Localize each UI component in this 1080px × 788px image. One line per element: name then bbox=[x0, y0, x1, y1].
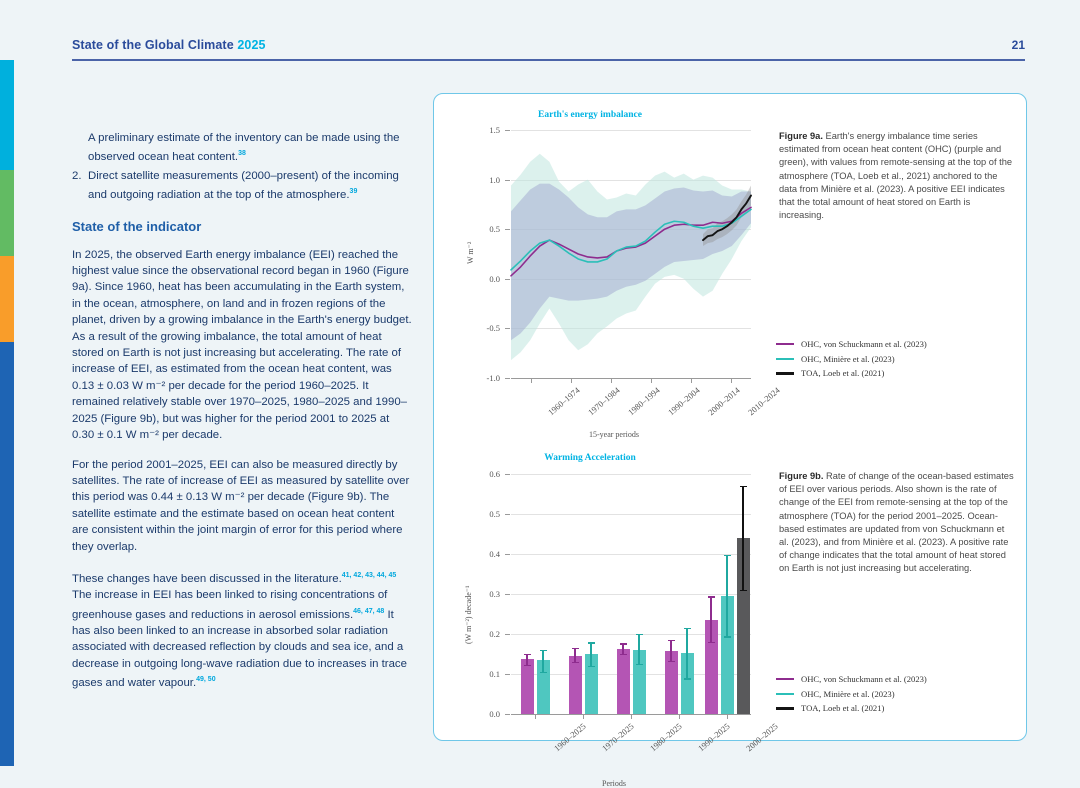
y-tickmark bbox=[505, 130, 510, 131]
gridline bbox=[511, 554, 751, 555]
y-tickmark bbox=[505, 634, 510, 635]
legend-item[interactable]: TOA, Loeb et al. (2021) bbox=[776, 368, 927, 378]
header-divider bbox=[72, 59, 1025, 61]
list-lead-text: A preliminary estimate of the inventory … bbox=[88, 132, 400, 163]
error-bar-cap-bottom bbox=[668, 661, 675, 662]
page-title-main: State of the Global Climate bbox=[72, 38, 234, 52]
footnote-ref-46-48[interactable]: 46, 47, 48 bbox=[353, 608, 384, 615]
legend-swatch-ohc-miniere bbox=[776, 358, 794, 360]
legend-item[interactable]: OHC, von Schuckmann et al. (2023) bbox=[776, 339, 927, 349]
error-bar-line bbox=[686, 628, 687, 678]
bar bbox=[617, 649, 630, 714]
rail-segment-blue bbox=[0, 342, 14, 766]
y-tick-label: -0.5 bbox=[487, 323, 500, 333]
y-tick-label: 1.0 bbox=[489, 175, 500, 185]
x-axis-label-9b: Periods bbox=[602, 779, 626, 788]
gridline bbox=[511, 474, 751, 475]
y-tick-label: -1.0 bbox=[487, 373, 500, 383]
error-bar-cap-bottom bbox=[620, 654, 627, 655]
error-bar-cap-top bbox=[724, 555, 731, 556]
legend-label-ohc-schuckmann: OHC, von Schuckmann et al. (2023) bbox=[801, 674, 927, 684]
x-tick-label: 2010–2024 bbox=[746, 385, 782, 417]
y-tickmark bbox=[505, 554, 510, 555]
page-number: 21 bbox=[1012, 38, 1025, 52]
bar bbox=[521, 659, 534, 714]
page-title: State of the Global Climate 2025 bbox=[72, 38, 1025, 52]
legend-9b: OHC, von Schuckmann et al. (2023) OHC, M… bbox=[776, 674, 927, 718]
error-bar-line bbox=[590, 642, 591, 665]
y-tickmark bbox=[505, 514, 510, 515]
y-tickmark bbox=[505, 229, 510, 230]
legend-swatch-toa-loeb bbox=[776, 372, 794, 375]
error-bar-cap-bottom bbox=[708, 642, 715, 643]
y-tick-label: 0.6 bbox=[489, 469, 500, 479]
caption-figure-9b: Figure 9b. Rate of change of the ocean-b… bbox=[779, 470, 1015, 576]
paragraph-2: For the period 2001–2025, EEI can also b… bbox=[72, 457, 412, 555]
legend-swatch-toa-loeb bbox=[776, 707, 794, 710]
legend-label-ohc-schuckmann: OHC, von Schuckmann et al. (2023) bbox=[801, 339, 927, 349]
legend-item[interactable]: OHC, Minière et al. (2023) bbox=[776, 354, 927, 364]
list-item-text: Direct satellite measurements (2000–pres… bbox=[88, 170, 399, 201]
y-axis-label-9b: (W m⁻²) decade⁻¹ bbox=[464, 586, 473, 644]
error-bar-cap-top bbox=[540, 650, 547, 651]
y-tick-label: 0.2 bbox=[489, 629, 500, 639]
legend-swatch-ohc-schuckmann bbox=[776, 343, 794, 345]
article-text-column: A preliminary estimate of the inventory … bbox=[72, 130, 412, 704]
y-tickmark bbox=[505, 714, 510, 715]
legend-label-toa-loeb: TOA, Loeb et al. (2021) bbox=[801, 368, 884, 378]
error-bar-cap-top bbox=[524, 654, 531, 655]
y-tick-label: 0.0 bbox=[489, 709, 500, 719]
error-bar-cap-top bbox=[668, 640, 675, 641]
y-tickmark bbox=[505, 594, 510, 595]
plot-area-9b: 0.00.10.20.30.40.50.61960–20251970–20251… bbox=[511, 474, 751, 714]
x-tickmark bbox=[583, 715, 584, 719]
caption-figure-9a: Figure 9a. Earth's energy imbalance time… bbox=[779, 130, 1015, 222]
footnote-ref-38[interactable]: 38 bbox=[238, 150, 246, 157]
legend-swatch-ohc-miniere bbox=[776, 693, 794, 695]
rail-segment-green bbox=[0, 170, 14, 256]
y-tick-label: 0.0 bbox=[489, 274, 500, 284]
brand-color-rail bbox=[0, 60, 14, 764]
legend-item[interactable]: OHC, Minière et al. (2023) bbox=[776, 689, 927, 699]
gridline bbox=[511, 594, 751, 595]
error-bar-cap-bottom bbox=[636, 664, 643, 665]
error-bar-line bbox=[710, 596, 711, 642]
caption-9a-label: Figure 9a. bbox=[779, 131, 823, 141]
error-bar-cap-top bbox=[740, 486, 747, 487]
x-tick-label: 1980–1994 bbox=[626, 385, 662, 417]
error-bar-line bbox=[574, 648, 575, 662]
error-bar-cap-bottom bbox=[572, 662, 579, 663]
x-tickmark bbox=[679, 715, 680, 719]
y-tick-label: 1.5 bbox=[489, 125, 500, 135]
caption-9b-label: Figure 9b. bbox=[779, 471, 823, 481]
list-item-2: 2. Direct satellite measurements (2000–p… bbox=[72, 168, 412, 204]
y-tick-label: 0.3 bbox=[489, 589, 500, 599]
x-tick-label: 1970–2025 bbox=[600, 721, 636, 753]
x-tickmark bbox=[727, 715, 728, 719]
error-bar-cap-top bbox=[684, 628, 691, 629]
error-bar-line bbox=[670, 640, 671, 661]
section-heading: State of the indicator bbox=[72, 219, 412, 235]
y-tickmark bbox=[505, 328, 510, 329]
error-bar-cap-top bbox=[620, 643, 627, 644]
x-tick-label: 1960–2025 bbox=[552, 721, 588, 753]
chart-title-9a: Earth's energy imbalance bbox=[294, 110, 886, 120]
bar bbox=[569, 656, 582, 714]
x-tickmark bbox=[691, 379, 692, 383]
y-tick-label: 0.5 bbox=[489, 224, 500, 234]
y-axis-label-9a: W m⁻² bbox=[466, 242, 475, 264]
legend-item[interactable]: TOA, Loeb et al. (2021) bbox=[776, 703, 927, 713]
error-bar-line bbox=[526, 654, 527, 665]
y-tickmark bbox=[505, 180, 510, 181]
error-bar-line bbox=[742, 486, 743, 590]
x-tick-label: 2000–2025 bbox=[744, 721, 780, 753]
chart-title-9b: Warming Acceleration bbox=[294, 453, 886, 463]
error-bar-line bbox=[622, 643, 623, 654]
error-bar-line bbox=[726, 555, 727, 637]
error-bar-line bbox=[542, 650, 543, 672]
error-bar-cap-bottom bbox=[684, 678, 691, 679]
legend-label-toa-loeb: TOA, Loeb et al. (2021) bbox=[801, 703, 884, 713]
line-chart-svg-9a bbox=[511, 130, 751, 378]
caption-9a-text: Earth's energy imbalance time series est… bbox=[779, 131, 1012, 220]
y-tickmark bbox=[505, 279, 510, 280]
x-tickmark bbox=[531, 379, 532, 383]
footnote-ref-41-45[interactable]: 41, 42, 43, 44, 45 bbox=[342, 572, 397, 579]
y-tick-label: 0.4 bbox=[489, 549, 500, 559]
list-item-body: Direct satellite measurements (2000–pres… bbox=[88, 168, 412, 204]
paragraph-1: In 2025, the observed Earth energy imbal… bbox=[72, 247, 412, 444]
legend-swatch-ohc-schuckmann bbox=[776, 678, 794, 680]
x-tickmark bbox=[631, 715, 632, 719]
y-tick-label: 0.5 bbox=[489, 509, 500, 519]
footnote-ref-39[interactable]: 39 bbox=[350, 188, 358, 195]
x-tickmark bbox=[651, 379, 652, 383]
page-header: State of the Global Climate 2025 21 bbox=[72, 38, 1025, 52]
legend-item[interactable]: OHC, von Schuckmann et al. (2023) bbox=[776, 674, 927, 684]
x-tickmark bbox=[731, 379, 732, 383]
x-tick-label: 1990–2004 bbox=[666, 385, 702, 417]
legend-label-ohc-miniere: OHC, Minière et al. (2023) bbox=[801, 354, 895, 364]
y-tickmark bbox=[505, 474, 510, 475]
error-bar-cap-bottom bbox=[740, 590, 747, 591]
error-bar-cap-top bbox=[708, 596, 715, 597]
caption-9b-text: Rate of change of the ocean-based estima… bbox=[779, 471, 1014, 573]
paragraph-3-part-a: These changes have been discussed in the… bbox=[72, 573, 342, 585]
rail-segment-orange bbox=[0, 256, 14, 342]
legend-label-ohc-miniere: OHC, Minière et al. (2023) bbox=[801, 689, 895, 699]
y-tickmark bbox=[505, 674, 510, 675]
x-tick-label: 1960–1974 bbox=[546, 385, 582, 417]
page-title-year: 2025 bbox=[237, 38, 265, 52]
y-tickmark bbox=[505, 378, 510, 379]
error-bar-cap-bottom bbox=[588, 666, 595, 667]
error-bar-cap-top bbox=[588, 642, 595, 643]
list-lead-paragraph: A preliminary estimate of the inventory … bbox=[72, 130, 412, 166]
rail-segment-cyan bbox=[0, 60, 14, 170]
error-bar-line bbox=[638, 634, 639, 664]
list-item-number: 2. bbox=[72, 168, 88, 204]
x-tick-label: 1980–2025 bbox=[648, 721, 684, 753]
paragraph-3-part-b: The increase in EEI has been linked to r… bbox=[72, 589, 387, 620]
error-bar-cap-bottom bbox=[724, 636, 731, 637]
x-tickmark bbox=[535, 715, 536, 719]
x-tickmark bbox=[611, 379, 612, 383]
footnote-ref-49-50[interactable]: 49, 50 bbox=[196, 676, 215, 683]
error-bar-cap-top bbox=[636, 634, 643, 635]
x-tickmark bbox=[571, 379, 572, 383]
x-tick-label: 1990–2025 bbox=[696, 721, 732, 753]
error-bar-cap-bottom bbox=[540, 672, 547, 673]
x-tick-label: 1970–1984 bbox=[586, 385, 622, 417]
x-axis-line bbox=[511, 378, 751, 379]
paragraph-3-part-c: It has also been linked to an increase i… bbox=[72, 608, 407, 688]
plot-area-9a: -1.0-0.50.00.51.01.51960–19741970–198419… bbox=[511, 130, 751, 378]
error-bar-cap-top bbox=[572, 648, 579, 649]
error-bar-cap-bottom bbox=[524, 665, 531, 666]
x-tick-label: 2000–2014 bbox=[706, 385, 742, 417]
paragraph-3: These changes have been discussed in the… bbox=[72, 568, 412, 691]
y-tick-label: 0.1 bbox=[489, 669, 500, 679]
legend-9a: OHC, von Schuckmann et al. (2023) OHC, M… bbox=[776, 339, 927, 383]
gridline bbox=[511, 514, 751, 515]
